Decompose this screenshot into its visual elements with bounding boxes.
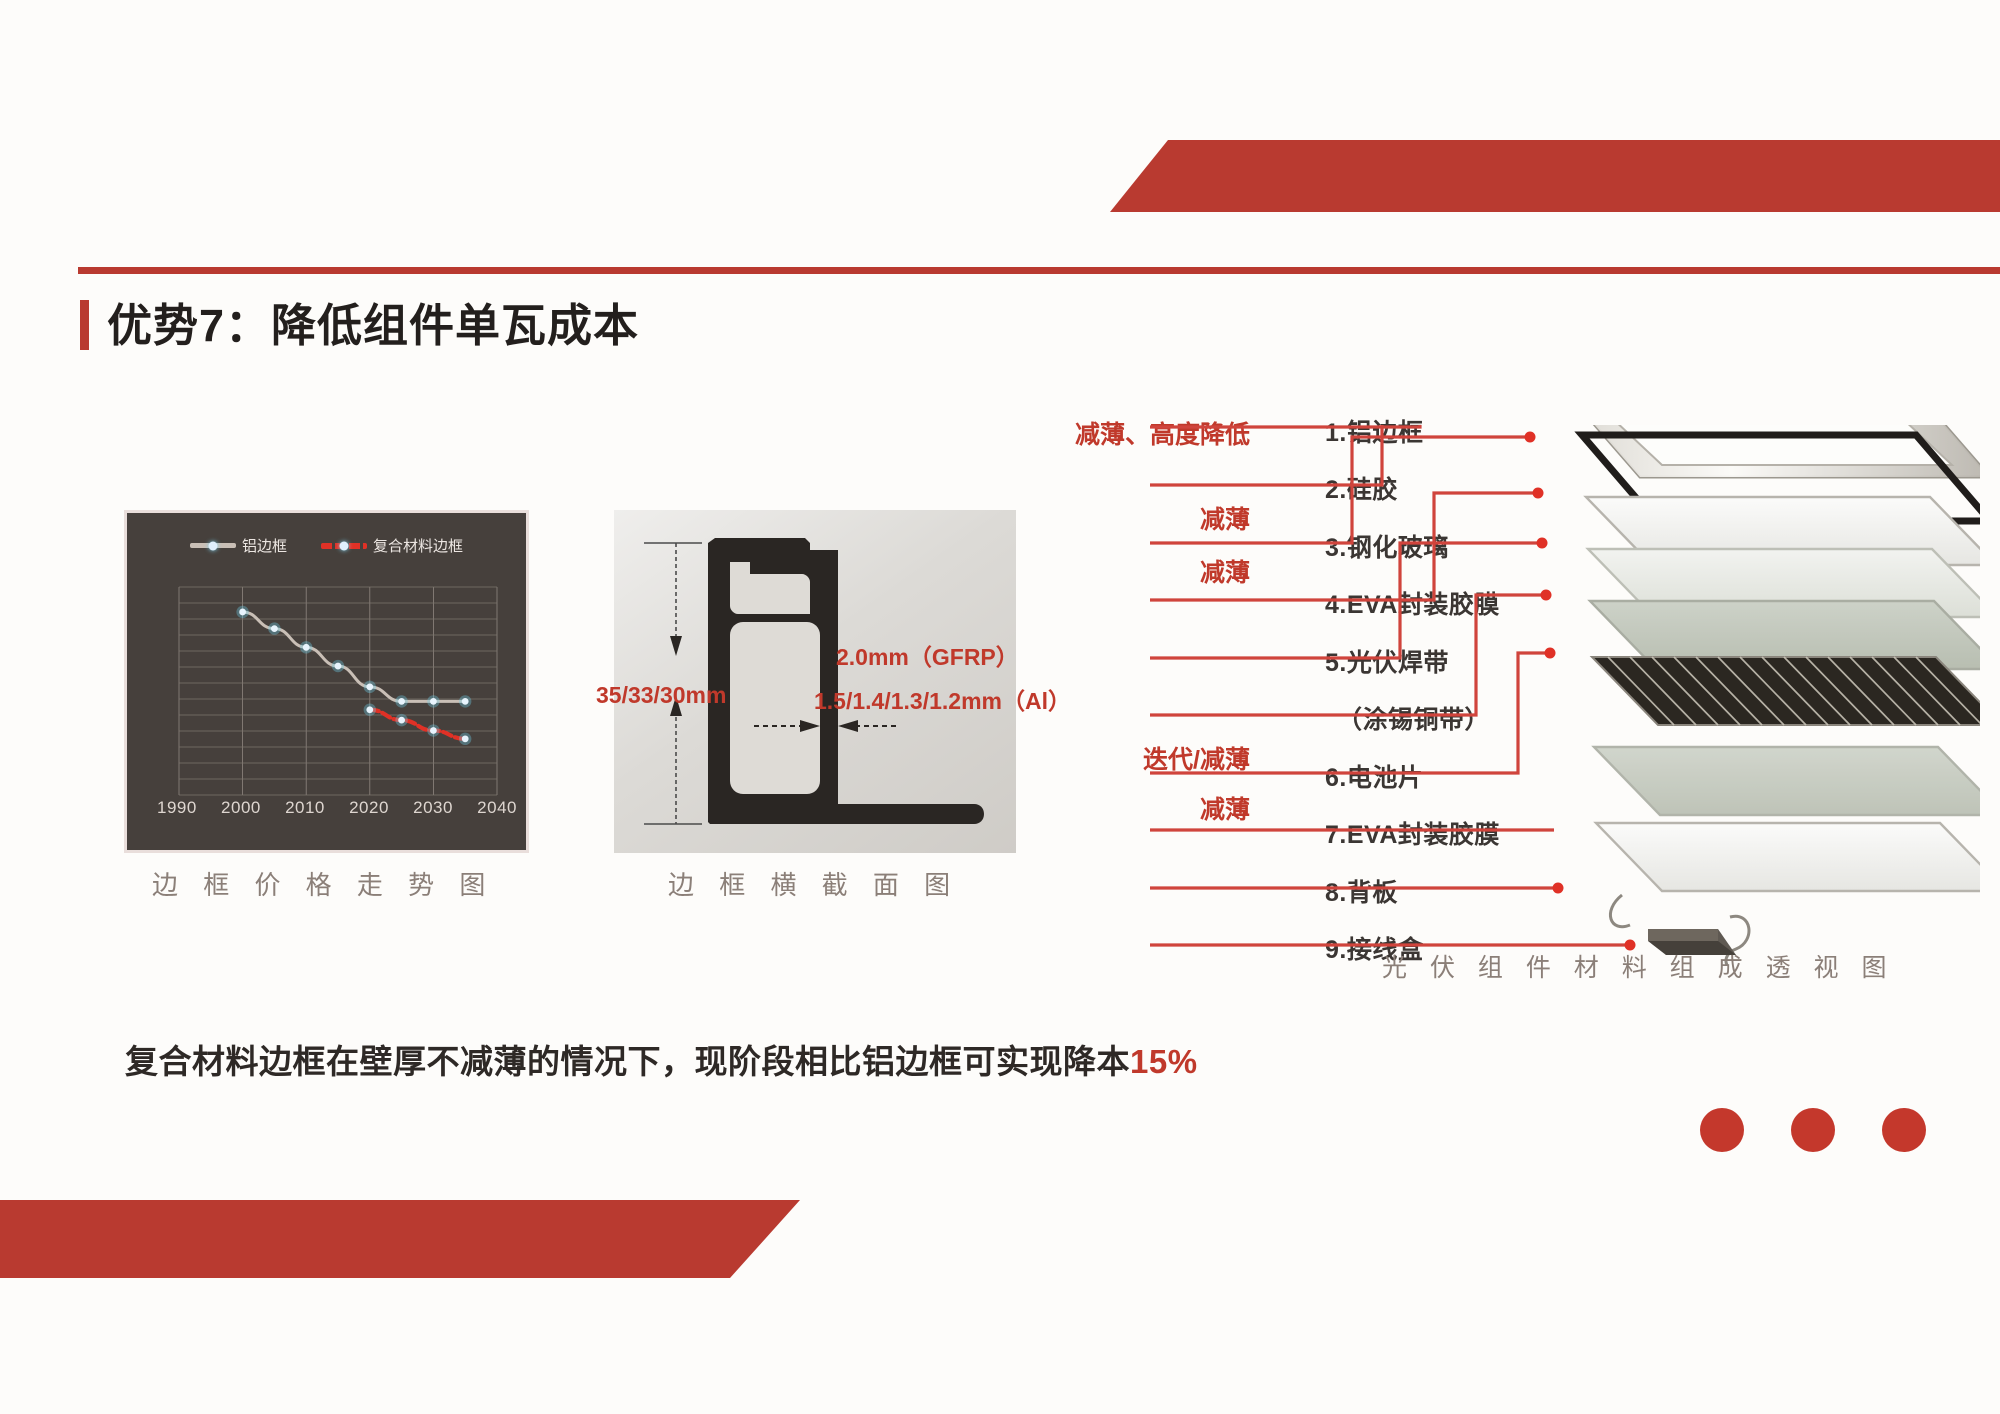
- chart-data-point: [398, 698, 405, 705]
- pv-module-exploded-diagram: 减薄、高度降低 减薄 减薄 迭代/减薄 减薄 1.铝边框 2.硅胶 3.钢化玻璃…: [1030, 425, 1980, 965]
- summary-text: 复合材料边框在壁厚不减薄的情况下，现阶段相比铝边框可实现降本: [125, 1043, 1130, 1080]
- frame-price-trend-chart: 铝边框 复合材料边框 1990 2000 2010 2020 2030 2040: [124, 510, 529, 853]
- chart-plot-area: [179, 587, 497, 795]
- chart-data-point: [398, 717, 405, 724]
- decor-dot: [1700, 1108, 1744, 1152]
- legend-swatch-composite: [321, 543, 367, 549]
- legend-item-aluminum: 铝边框: [190, 535, 287, 556]
- chart-data-point: [430, 698, 437, 705]
- cross-section-caption: 边 框 横 截 面 图: [668, 865, 959, 902]
- chart-x-axis-ticks: 1990 2000 2010 2020 2030 2040: [157, 798, 517, 818]
- decorative-dots-group: [1700, 1108, 1926, 1152]
- chart-data-point: [462, 735, 469, 742]
- page-title: 优势7：降低组件单瓦成本: [107, 303, 639, 348]
- chart-data-point: [271, 625, 278, 632]
- chart-gridlines: [179, 587, 497, 795]
- module-diagram-caption: 光 伏 组 件 材 料 组 成 透 视 图: [1382, 948, 1894, 984]
- legend-label-composite: 复合材料边框: [373, 535, 463, 556]
- x-tick: 2010: [285, 798, 325, 818]
- top-right-accent-band: [1110, 140, 2000, 212]
- chart-data-point: [239, 609, 246, 616]
- x-tick: 2030: [413, 798, 453, 818]
- legend-label-aluminum: 铝边框: [242, 535, 287, 556]
- chart-data-point: [303, 644, 310, 651]
- decor-dot: [1791, 1108, 1835, 1152]
- title-accent-tick: [80, 300, 89, 350]
- module-artwork: [1030, 425, 1980, 965]
- cross-section-gfrp-label: 2.0mm（GFRP）: [836, 638, 1019, 672]
- chart-data-point: [366, 683, 373, 690]
- x-tick: 1990: [157, 798, 197, 818]
- chart-data-point: [335, 663, 342, 670]
- chart-legend: 铝边框 复合材料边框: [127, 535, 526, 556]
- chart-data-point: [430, 727, 437, 734]
- legend-swatch-aluminum: [190, 543, 236, 548]
- chart-data-point: [462, 698, 469, 705]
- bottom-left-accent-band: [0, 1200, 800, 1278]
- x-tick: 2040: [477, 798, 517, 818]
- x-tick: 2000: [221, 798, 261, 818]
- chart-data-point: [366, 706, 373, 713]
- cross-section-height-label: 35/33/30mm: [596, 682, 726, 709]
- chart-caption: 边 框 价 格 走 势 图: [152, 865, 494, 902]
- chart-series-line: [370, 710, 465, 739]
- chart-series-layer: [236, 606, 471, 745]
- x-tick: 2020: [349, 798, 389, 818]
- frame-cross-section-figure: 35/33/30mm 2.0mm（GFRP） 1.5/1.4/1.3/1.2mm…: [614, 510, 1016, 853]
- title-divider-rule: [78, 267, 2000, 274]
- decor-dot: [1882, 1108, 1926, 1152]
- summary-highlight: 15%: [1130, 1043, 1198, 1080]
- summary-statement: 复合材料边框在壁厚不减薄的情况下，现阶段相比铝边框可实现降本15%: [125, 1035, 1198, 1083]
- slide-header: 优势7：降低组件单瓦成本: [80, 300, 639, 350]
- legend-item-composite: 复合材料边框: [321, 535, 463, 556]
